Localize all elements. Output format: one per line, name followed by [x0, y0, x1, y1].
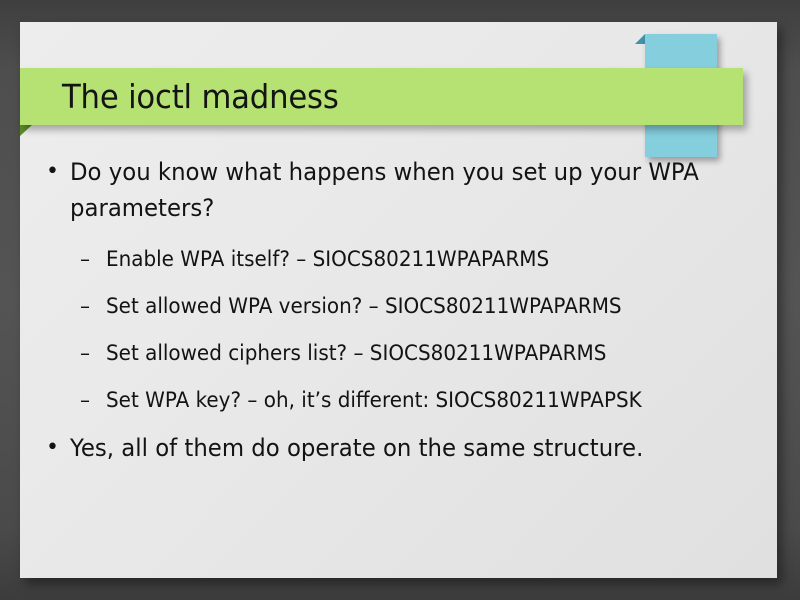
dash-marker-icon: –: [80, 330, 106, 377]
title-bar-fold-icon: [20, 125, 32, 136]
dash-marker-icon: –: [80, 377, 106, 424]
slide-body: • Do you know what happens when you set …: [20, 154, 777, 470]
title-bar: The ioctl madness: [20, 68, 743, 125]
sub-bullet-text: Set WPA key? – oh, it’s different: SIOCS…: [106, 377, 715, 424]
slide-title: The ioctl madness: [62, 77, 339, 116]
sub-bullet-group: – Enable WPA itself? – SIOCS80211WPAPARM…: [20, 236, 777, 424]
slide-backdrop: The ioctl madness • Do you know what hap…: [0, 0, 800, 600]
bullet-item-2: • Yes, all of them do operate on the sam…: [20, 430, 777, 466]
dash-marker-icon: –: [80, 283, 106, 330]
sub-bullet-text: Enable WPA itself? – SIOCS80211WPAPARMS: [106, 236, 715, 283]
bullet-item-1: • Do you know what happens when you set …: [20, 154, 777, 226]
sub-bullet-item-2: – Set allowed WPA version? – SIOCS80211W…: [20, 283, 777, 330]
sub-bullet-text: Set allowed ciphers list? – SIOCS80211WP…: [106, 330, 715, 377]
sub-bullet-text: Set allowed WPA version? – SIOCS80211WPA…: [106, 283, 715, 330]
bullet-text: Do you know what happens when you set up…: [70, 154, 704, 226]
bullet-text: Yes, all of them do operate on the same …: [70, 430, 704, 466]
slide-canvas: The ioctl madness • Do you know what hap…: [20, 22, 777, 578]
dash-marker-icon: –: [80, 236, 106, 283]
sub-bullet-item-4: – Set WPA key? – oh, it’s different: SIO…: [20, 377, 777, 424]
sub-bullet-item-3: – Set allowed ciphers list? – SIOCS80211…: [20, 330, 777, 377]
bullet-marker-icon: •: [46, 154, 70, 190]
bullet-marker-icon: •: [46, 430, 70, 466]
accent-block-fold-icon: [635, 34, 645, 44]
sub-bullet-item-1: – Enable WPA itself? – SIOCS80211WPAPARM…: [20, 236, 777, 283]
